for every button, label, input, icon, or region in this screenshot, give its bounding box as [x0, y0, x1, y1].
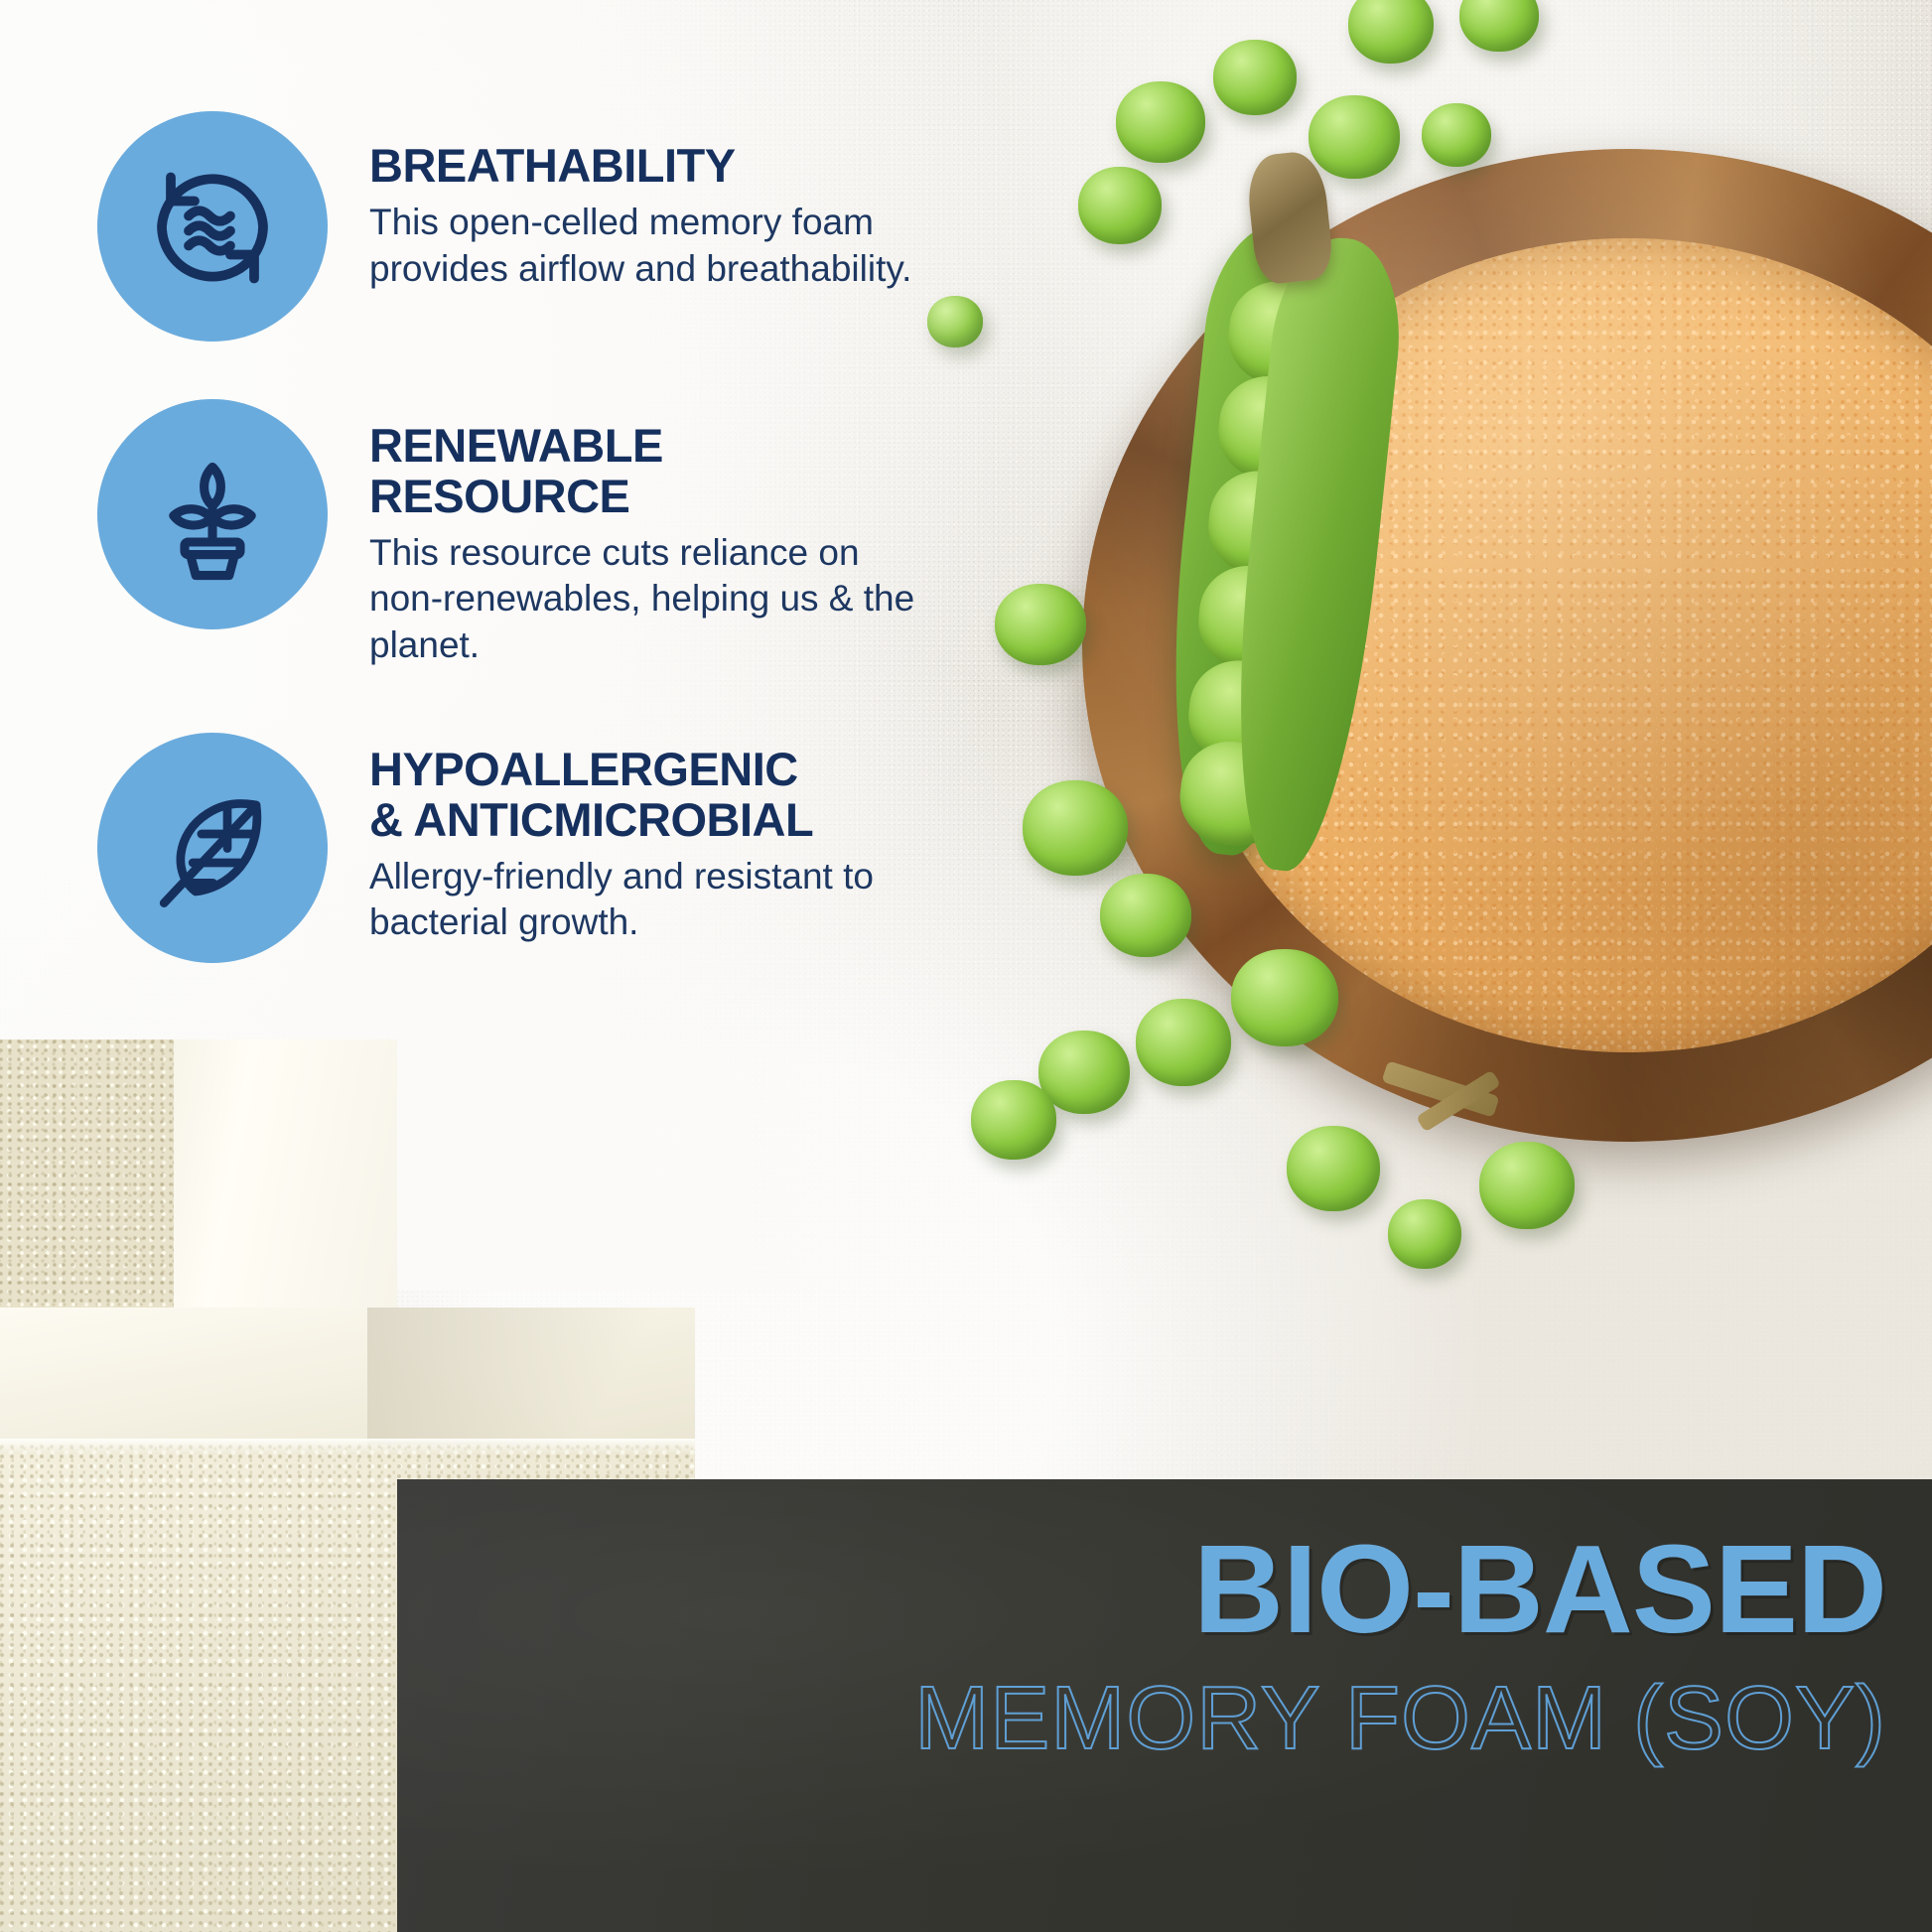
pod-stem: [1244, 149, 1334, 285]
feature-item-hypoallergenic: HYPOALLERGENIC & ANTICMICROBIAL Allergy-…: [97, 733, 965, 963]
foam-edge-highlight: [0, 1439, 695, 1454]
feature-text: RENEWABLE RESOURCE This resource cuts re…: [369, 399, 965, 669]
banner-subtitle: MEMORY FOAM (SOY): [576, 1674, 1886, 1763]
feature-icon-badge: [97, 733, 328, 963]
feature-item-breathability: BREATHABILITY This open-celled memory fo…: [97, 111, 965, 342]
banner-title: BIO-BASED: [576, 1527, 1886, 1652]
leaf-icon: [141, 776, 285, 920]
feature-text: HYPOALLERGENIC & ANTICMICROBIAL Allergy-…: [369, 733, 965, 946]
feature-icon-badge: [97, 111, 328, 342]
banner-text-group: BIO-BASED MEMORY FOAM (SOY): [576, 1527, 1886, 1763]
feature-item-renewable-resource: RENEWABLE RESOURCE This resource cuts re…: [97, 399, 965, 669]
bottom-banner: BIO-BASED MEMORY FOAM (SOY): [397, 1479, 1932, 1932]
feature-title: BREATHABILITY: [369, 141, 965, 192]
foam-shadow: [367, 1308, 705, 1447]
feature-icon-badge: [97, 399, 328, 629]
feature-body: Allergy-friendly and resistant to bacter…: [369, 854, 965, 947]
feature-title: RENEWABLE RESOURCE: [369, 421, 965, 522]
feature-body: This resource cuts reliance on non-renew…: [369, 530, 965, 670]
foam-upper-block: [0, 1039, 397, 1308]
potted-plant-icon: [143, 445, 282, 584]
feature-body: This open-celled memory foam provides ai…: [369, 200, 965, 293]
feature-text: BREATHABILITY This open-celled memory fo…: [369, 111, 965, 293]
airflow-refresh-icon: [138, 152, 287, 301]
feature-title: HYPOALLERGENIC & ANTICMICROBIAL: [369, 745, 965, 846]
